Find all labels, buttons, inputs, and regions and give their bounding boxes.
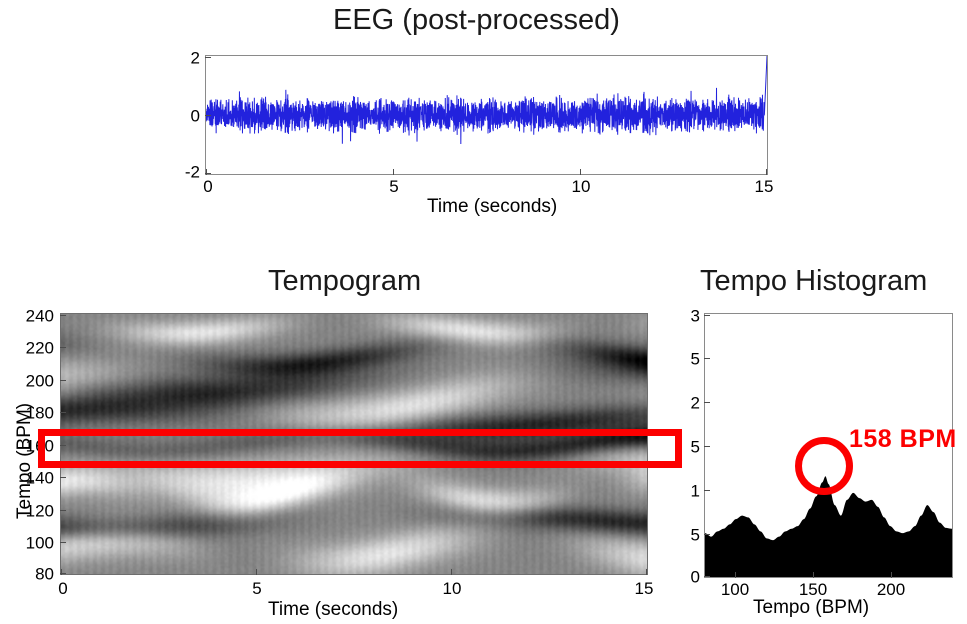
tempogram-plot-area bbox=[60, 313, 648, 575]
histogram-yticklabel-6: 0 bbox=[680, 569, 700, 586]
eeg-xticklabel-0: 0 bbox=[203, 178, 212, 195]
eeg-ytick-0 bbox=[205, 115, 211, 116]
eeg-xticklabel-1: 5 bbox=[389, 178, 398, 195]
tempogram-ytick-180 bbox=[60, 412, 66, 413]
histogram-xtick-100 bbox=[735, 572, 736, 578]
tempogram-ytick-160 bbox=[60, 445, 66, 446]
tempogram-xtick-15 bbox=[646, 569, 647, 575]
tempogram-panel-title: Tempogram bbox=[268, 265, 421, 298]
eeg-xtick-0 bbox=[206, 169, 207, 175]
eeg-plot-area bbox=[205, 55, 768, 175]
tempogram-yticklabel-2: 200 bbox=[12, 373, 54, 390]
tempogram-xticklabel-3: 15 bbox=[635, 580, 654, 597]
tempogram-ytick-240 bbox=[60, 315, 66, 316]
tempogram-xtick-5 bbox=[256, 569, 257, 575]
eeg-waveform bbox=[206, 56, 767, 174]
tempogram-xaxis-label: Time (seconds) bbox=[268, 599, 398, 621]
histogram-ytick-1p5 bbox=[704, 446, 710, 447]
histogram-xtick-150 bbox=[813, 572, 814, 578]
tempogram-xtick-10 bbox=[451, 569, 452, 575]
tempogram-ytick-120 bbox=[60, 510, 66, 511]
eeg-yticklabel-0: 2 bbox=[178, 50, 200, 67]
eeg-xtick-10 bbox=[580, 169, 581, 175]
histogram-ytick-2 bbox=[704, 402, 710, 403]
histogram-ytick-2p5 bbox=[704, 358, 710, 359]
tempogram-ytick-200 bbox=[60, 380, 66, 381]
eeg-xtick-15 bbox=[766, 169, 767, 175]
tempogram-yticklabel-8: 80 bbox=[12, 566, 54, 583]
tempogram-yticklabel-7: 100 bbox=[12, 535, 54, 552]
eeg-yticklabel-1: 0 bbox=[178, 108, 200, 125]
histogram-ytick-3 bbox=[704, 315, 710, 316]
eeg-xtick-5 bbox=[393, 169, 394, 175]
histogram-xtick-200 bbox=[891, 572, 892, 578]
tempogram-ytick-140 bbox=[60, 477, 66, 478]
histogram-xaxis-label: Tempo (BPM) bbox=[753, 597, 869, 619]
histogram-ytick-1 bbox=[704, 490, 710, 491]
eeg-yticklabel-2: -2 bbox=[172, 164, 200, 181]
histogram-ytick-0p5 bbox=[704, 534, 710, 535]
histogram-xticklabel-2: 200 bbox=[877, 581, 905, 598]
eeg-ytick-2 bbox=[205, 57, 211, 58]
tempogram-xtick-0 bbox=[61, 569, 62, 575]
tempogram-yticklabel-1: 220 bbox=[12, 340, 54, 357]
histogram-peak-annotation: 158 BPM bbox=[849, 425, 957, 454]
histogram-xticklabel-1: 150 bbox=[799, 581, 827, 598]
histogram-panel-title: Tempo Histogram bbox=[700, 265, 927, 298]
histogram-ytick-0 bbox=[704, 576, 710, 577]
eeg-xticklabel-3: 15 bbox=[755, 178, 774, 195]
tempogram-yaxis-label: Tempo (BPM) bbox=[14, 403, 36, 519]
eeg-xticklabel-2: 10 bbox=[572, 178, 591, 195]
histogram-xticklabel-0: 100 bbox=[721, 581, 749, 598]
histogram-yticklabel-2: 2 bbox=[680, 395, 700, 412]
tempogram-yticklabel-0: 240 bbox=[12, 308, 54, 325]
tempogram-ytick-100 bbox=[60, 542, 66, 543]
eeg-xaxis-label: Time (seconds) bbox=[427, 196, 557, 218]
tempogram-heatmap bbox=[61, 314, 647, 574]
tempogram-xticklabel-2: 10 bbox=[443, 580, 462, 597]
tempogram-xticklabel-0: 0 bbox=[58, 580, 67, 597]
tempogram-ytick-220 bbox=[60, 347, 66, 348]
tempogram-xticklabel-1: 5 bbox=[252, 580, 261, 597]
eeg-panel-title: EEG (post-processed) bbox=[333, 4, 620, 37]
histogram-yticklabel-1: 5 bbox=[680, 351, 700, 368]
histogram-yticklabel-0: 3 bbox=[680, 308, 700, 325]
histogram-yticklabel-3: 5 bbox=[680, 439, 700, 456]
histogram-yticklabel-4: 1 bbox=[680, 483, 700, 500]
histogram-yticklabel-5: 5 bbox=[680, 527, 700, 544]
